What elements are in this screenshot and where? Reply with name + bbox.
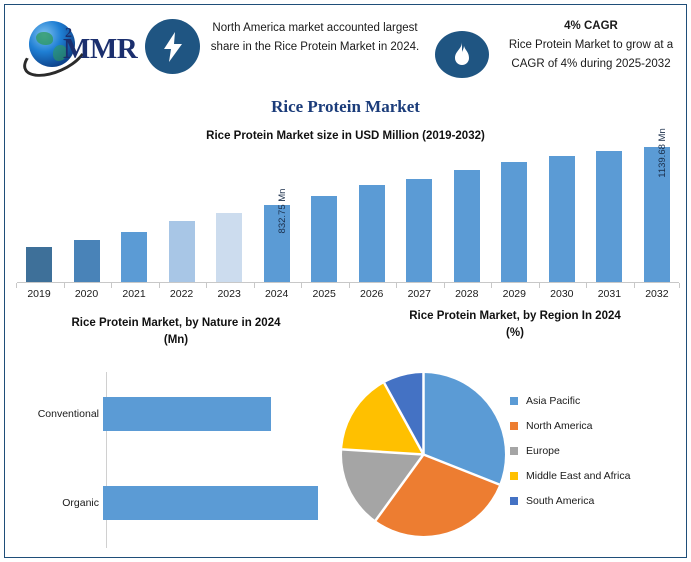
region-heading-line1: Rice Protein Market, by Region In 2024 — [350, 308, 680, 325]
pie-slice-separators — [342, 373, 505, 536]
bar-column — [207, 147, 251, 282]
mmr-logo: 2 MMR — [19, 17, 147, 79]
x-tick-2032: 2032 — [635, 283, 679, 305]
x-tick-2025: 2025 — [302, 283, 346, 305]
infographic-frame: 2 MMR North America market accounted lar… — [4, 4, 687, 558]
x-tick-2022: 2022 — [160, 283, 204, 305]
bar-2027 — [406, 179, 432, 282]
bar-column — [587, 147, 631, 282]
legend-label: South America — [526, 495, 594, 507]
bar-column — [445, 147, 489, 282]
hbar-fill-conventional — [103, 397, 271, 431]
hbar-label-conventional: Conventional — [13, 408, 103, 420]
bar-column — [65, 147, 109, 282]
bar-2021 — [121, 232, 147, 282]
bar-2020 — [74, 240, 100, 282]
legend-item: Europe — [510, 438, 680, 463]
bar-column: 1139.68 Mn — [635, 147, 679, 282]
bar-column — [540, 147, 584, 282]
x-tick-2029: 2029 — [492, 283, 536, 305]
legend-item: North America — [510, 413, 680, 438]
nature-bar-chart: ConventionalOrganic — [13, 370, 333, 550]
x-tick-2028: 2028 — [445, 283, 489, 305]
header-insight-text: North America market accounted largest s… — [201, 19, 429, 57]
x-tick-2030: 2030 — [540, 283, 584, 305]
bar-2019 — [26, 247, 52, 282]
bar-2023 — [216, 213, 242, 282]
x-tick-2020: 2020 — [65, 283, 109, 305]
legend-swatch-icon — [510, 397, 518, 405]
bar-2028 — [454, 170, 480, 282]
x-tick-2021: 2021 — [112, 283, 156, 305]
x-tick-2019: 2019 — [17, 283, 61, 305]
legend-swatch-icon — [510, 497, 518, 505]
legend-label: North America — [526, 420, 593, 432]
lightning-bolt-icon — [145, 19, 200, 74]
bar-column — [492, 147, 536, 282]
region-heading-line2: (%) — [350, 325, 680, 342]
legend-item: Middle East and Africa — [510, 463, 680, 488]
nature-chart-heading: Rice Protein Market, by Nature in 2024 (… — [15, 315, 337, 349]
bar-2030 — [549, 156, 575, 282]
bar-value-label: 832.75 Mn — [277, 189, 288, 234]
cagr-value: 4% CAGR — [491, 17, 691, 36]
bar-column — [112, 147, 156, 282]
x-tick-2024: 2024 — [255, 283, 299, 305]
hbar-fill-organic — [103, 486, 318, 520]
bar-value-label: 1139.68 Mn — [657, 128, 668, 177]
hbar-label-organic: Organic — [13, 497, 103, 509]
legend-label: Europe — [526, 445, 560, 457]
bar-column — [160, 147, 204, 282]
flame-icon — [435, 31, 489, 78]
bar-2032: 1139.68 Mn — [644, 147, 670, 282]
pie-legend: Asia PacificNorth AmericaEuropeMiddle Ea… — [510, 388, 680, 513]
legend-swatch-icon — [510, 472, 518, 480]
x-axis-tick-labels: 2019202020212022202320242025202620272028… — [17, 283, 679, 305]
x-tick-2023: 2023 — [207, 283, 251, 305]
legend-label: Middle East and Africa — [526, 470, 630, 482]
header-bar: 2 MMR North America market accounted lar… — [5, 5, 686, 91]
bar-column — [397, 147, 441, 282]
x-tick-2031: 2031 — [587, 283, 631, 305]
legend-label: Asia Pacific — [526, 395, 580, 407]
nature-heading-line1: Rice Protein Market, by Nature in 2024 — [15, 315, 337, 332]
bar-column: 832.75 Mn — [255, 147, 299, 282]
legend-swatch-icon — [510, 422, 518, 430]
market-size-bar-chart: 832.75 Mn1139.68 Mn 20192020202120222023… — [17, 147, 679, 305]
bar-column — [17, 147, 61, 282]
cagr-description: Rice Protein Market to grow at a CAGR of… — [491, 36, 691, 74]
x-tick-2026: 2026 — [350, 283, 394, 305]
bar-2029 — [501, 162, 527, 282]
page-title: Rice Protein Market — [5, 97, 686, 117]
x-tick-2027: 2027 — [397, 283, 441, 305]
bar-2022 — [169, 221, 195, 282]
bar-column — [350, 147, 394, 282]
hbar-row: Conventional — [13, 397, 333, 431]
region-pie-chart: Asia PacificNorth AmericaEuropeMiddle Ea… — [342, 370, 682, 550]
bar-2031 — [596, 151, 622, 282]
legend-swatch-icon — [510, 447, 518, 455]
bar-column — [302, 147, 346, 282]
header-cagr-block: 4% CAGR Rice Protein Market to grow at a… — [491, 17, 691, 74]
bar-2025 — [311, 196, 337, 282]
legend-item: Asia Pacific — [510, 388, 680, 413]
bar-2026 — [359, 185, 385, 282]
nature-heading-line2: (Mn) — [15, 332, 337, 349]
legend-item: South America — [510, 488, 680, 513]
bar-2024: 832.75 Mn — [264, 205, 290, 282]
logo-text: MMR — [63, 33, 137, 66]
hbar-row: Organic — [13, 486, 333, 520]
bar-plot-area: 832.75 Mn1139.68 Mn — [17, 147, 679, 282]
region-chart-heading: Rice Protein Market, by Region In 2024 (… — [350, 308, 680, 342]
chart-subtitle: Rice Protein Market size in USD Million … — [5, 130, 686, 142]
